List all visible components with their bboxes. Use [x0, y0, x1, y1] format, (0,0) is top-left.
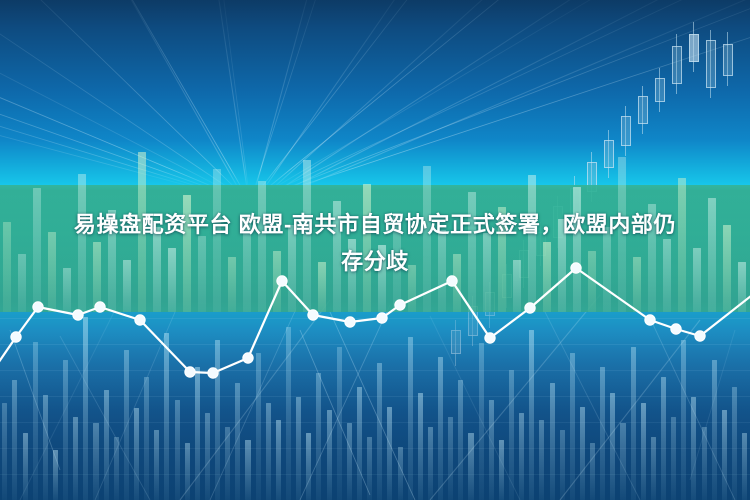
trend-marker [73, 310, 83, 320]
volume-bar [114, 437, 119, 500]
volume-bar [43, 395, 48, 500]
trend-marker [525, 303, 535, 313]
volume-bar [316, 373, 321, 500]
candlestick-body [468, 306, 478, 336]
volume-bar [722, 410, 727, 500]
volume-bar [225, 427, 230, 500]
candlestick-wick [659, 68, 660, 112]
volume-bar [306, 433, 311, 500]
volume-bar [73, 417, 78, 500]
candlestick-wick [608, 130, 609, 178]
candlestick-body [655, 78, 665, 102]
trend-marker [671, 324, 681, 334]
candlestick-body [485, 292, 495, 316]
volume-bar [2, 403, 7, 500]
candlestick-body [672, 46, 682, 84]
volume-bar [195, 367, 200, 500]
candlestick-body [638, 96, 648, 124]
volume-bar [428, 427, 433, 500]
candlestick-body [621, 116, 631, 146]
volume-bar [651, 437, 656, 500]
gridline [0, 474, 750, 475]
trend-marker [208, 368, 218, 378]
trend-line-path [0, 268, 750, 373]
candlestick-wick [591, 152, 592, 202]
volume-bar [185, 443, 190, 500]
trend-marker [33, 302, 43, 312]
volume-bar [408, 337, 413, 500]
volume-bar [509, 370, 514, 500]
headline-line-1: 易操盘配资平台 欧盟-南共市自贸协定正式签署，欧盟内部仍 [18, 206, 732, 243]
candlestick-body [587, 162, 597, 192]
volume-bar [570, 353, 575, 500]
volume-bar [93, 423, 98, 500]
volume-bar [245, 440, 250, 500]
volume-bar [702, 427, 707, 500]
volume-bar [732, 387, 737, 500]
trend-marker [11, 332, 21, 342]
volume-bar [23, 433, 28, 500]
lower-water-tint [0, 310, 750, 500]
volume-bar [377, 363, 382, 500]
volume-bar [489, 400, 494, 500]
volume-bar [215, 340, 220, 500]
trend-marker [135, 315, 145, 325]
headline-title: 易操盘配资平台 欧盟-南共市自贸协定正式签署，欧盟内部仍 存分歧 [0, 206, 750, 280]
volume-bar [631, 347, 636, 500]
volume-bar [580, 407, 585, 500]
volume-bar [144, 377, 149, 500]
volume-bar [367, 437, 372, 500]
gridline [0, 344, 750, 345]
volume-bar [661, 377, 666, 500]
candlestick-wick [693, 22, 694, 72]
candlestick-body [451, 330, 461, 354]
volume-bar [134, 408, 139, 500]
volume-bar [438, 357, 443, 500]
volume-bar [600, 367, 605, 500]
volume-bar [742, 433, 747, 500]
volume-bar [479, 343, 484, 500]
volume-bar [276, 420, 281, 500]
volume-bar [205, 413, 210, 500]
headline-line-2: 存分歧 [18, 243, 732, 280]
candlestick-wick [727, 32, 728, 86]
volume-bar [641, 403, 646, 500]
volume-bar [539, 420, 544, 500]
volume-bar [610, 393, 615, 500]
trend-marker [345, 317, 355, 327]
trend-marker [395, 300, 405, 310]
trend-marker [95, 302, 105, 312]
volume-bar [398, 447, 403, 500]
trend-marker [185, 367, 195, 377]
trend-line-markers [11, 263, 705, 378]
gridline [0, 396, 750, 397]
candlestick-wick [489, 282, 490, 328]
volume-bar [63, 360, 68, 500]
volume-bar [266, 403, 271, 500]
volume-bar [620, 423, 625, 500]
volume-bar [560, 430, 565, 500]
volume-bar [337, 347, 342, 500]
gridline [0, 422, 750, 423]
volume-bar [499, 440, 504, 500]
volume-bar [12, 380, 17, 500]
financial-news-banner: 易操盘配资平台 欧盟-南共市自贸协定正式签署，欧盟内部仍 存分歧 [0, 0, 750, 500]
volume-bar [154, 430, 159, 500]
trend-marker [308, 310, 318, 320]
volume-bar [448, 417, 453, 500]
trend-marker [695, 331, 705, 341]
trend-marker [377, 313, 387, 323]
trend-marker [645, 315, 655, 325]
volume-bar [458, 380, 463, 500]
volume-bar [691, 397, 696, 500]
volume-bar [357, 387, 362, 500]
volume-bar [104, 390, 109, 500]
candlestick-wick [676, 34, 677, 94]
volume-bar [529, 330, 534, 500]
candlestick-wick [455, 320, 456, 366]
volume-bar [468, 433, 473, 500]
gridline [0, 448, 750, 449]
trend-marker [243, 353, 253, 363]
volume-bar [327, 410, 332, 500]
candlestick-body [689, 34, 699, 62]
candlestick-body [706, 40, 716, 88]
volume-bar [235, 383, 240, 500]
volume-bar [124, 350, 129, 500]
volume-bar [418, 393, 423, 500]
candlestick-body [604, 140, 614, 168]
volume-bar [175, 400, 180, 500]
gridline [0, 318, 750, 319]
volume-bar [590, 443, 595, 500]
volume-bar [681, 340, 686, 500]
candlestick-wick [472, 296, 473, 346]
volume-bar [286, 327, 291, 500]
candlestick-wick [642, 86, 643, 134]
trend-marker [485, 333, 495, 343]
candlestick-wick [625, 106, 626, 156]
volume-bar [671, 417, 676, 500]
volume-bar [256, 353, 261, 500]
volume-bar [550, 383, 555, 500]
volume-bar [347, 423, 352, 500]
volume-bar [519, 413, 524, 500]
volume-bar [53, 450, 58, 500]
volume-bar [296, 397, 301, 500]
gridline [0, 370, 750, 371]
candlestick-body [723, 44, 733, 76]
volume-bar [164, 333, 169, 500]
volume-bar [83, 317, 88, 500]
volume-bar [387, 407, 392, 500]
volume-bar [33, 342, 38, 500]
volume-bar [712, 360, 717, 500]
candlestick-wick [710, 30, 711, 98]
